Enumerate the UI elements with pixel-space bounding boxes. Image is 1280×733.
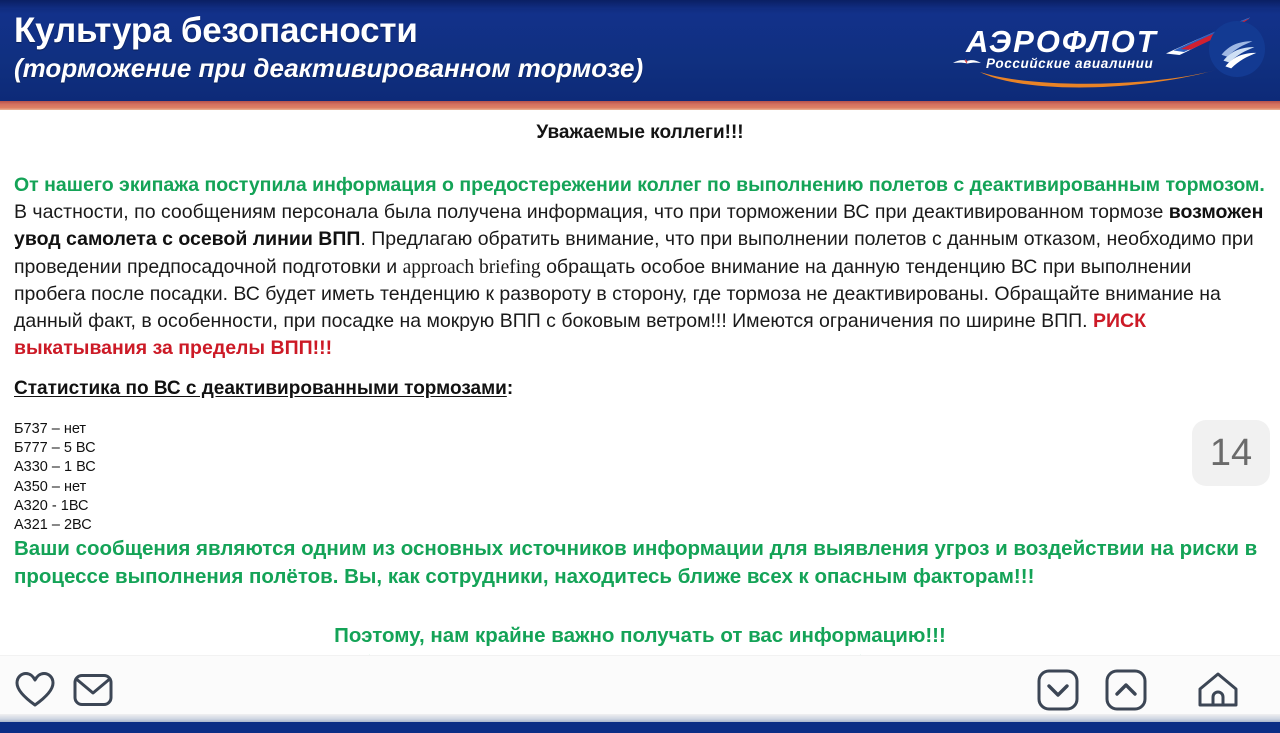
salutation-heading: Уважаемые коллеги!!!: [0, 122, 1280, 144]
list-item: А330 – 1 ВС: [14, 458, 96, 477]
statistics-title-colon: :: [507, 378, 513, 399]
chevron-up-icon: [1105, 669, 1147, 711]
chevron-down-icon: [1037, 669, 1079, 711]
list-item: А321 – 2ВС: [14, 516, 96, 535]
home-icon: [1197, 671, 1239, 709]
header-titles: Культура безопасности (торможение при де…: [14, 11, 643, 84]
statistics-list: Б737 – нет Б777 – 5 ВС А330 – 1 ВС А350 …: [14, 420, 96, 535]
main-paragraph: От нашего экипажа поступила информация о…: [14, 172, 1266, 362]
green-callout-paragraph: Ваши сообщения являются одним из основны…: [14, 535, 1270, 590]
bottom-toolbar: [0, 655, 1280, 722]
skyteam-alliance-icon: [1208, 20, 1266, 78]
slide-body: Уважаемые коллеги!!! От нашего экипажа п…: [0, 110, 1280, 655]
paragraph-serif-phrase: approach briefing: [403, 257, 541, 278]
like-button[interactable]: [14, 669, 56, 711]
page-number-badge: 14: [1192, 420, 1270, 486]
envelope-icon: [73, 673, 113, 707]
bottom-navy-bar: [0, 722, 1280, 733]
logo-wordmark: АЭРОФЛОТ: [966, 24, 1158, 60]
list-item: А320 - 1ВС: [14, 497, 96, 516]
previous-slide-button[interactable]: [1105, 669, 1147, 711]
bottom-divider: [0, 714, 1280, 722]
green-center-line-1: Поэтому, нам крайне важно получать от ва…: [0, 622, 1280, 650]
paragraph-part-1: В частности, по сообщениям персонала был…: [14, 201, 1169, 223]
header-accent-strip: [0, 101, 1280, 110]
next-slide-button[interactable]: [1037, 669, 1079, 711]
slide-header: Культура безопасности (торможение при де…: [0, 0, 1280, 101]
list-item: Б777 – 5 ВС: [14, 439, 96, 458]
page-subtitle: (торможение при деактивированном тормозе…: [14, 52, 643, 84]
list-item: Б737 – нет: [14, 420, 96, 439]
list-item: А350 – нет: [14, 478, 96, 497]
orange-swoosh-icon: [978, 68, 1218, 92]
heart-icon: [15, 671, 55, 709]
statistics-title: Статистика по ВС с деактивированными тор…: [14, 378, 513, 400]
home-button[interactable]: [1197, 669, 1239, 711]
message-button[interactable]: [72, 669, 114, 711]
statistics-title-underlined: Статистика по ВС с деактивированными тор…: [14, 378, 507, 399]
paragraph-green-lead: От нашего экипажа поступила информация о…: [14, 174, 1265, 196]
slide-viewer: Культура безопасности (торможение при де…: [0, 0, 1280, 733]
page-title: Культура безопасности: [14, 11, 643, 51]
aeroflot-logo: АЭРОФЛОТ Российские авиалинии: [938, 8, 1268, 94]
